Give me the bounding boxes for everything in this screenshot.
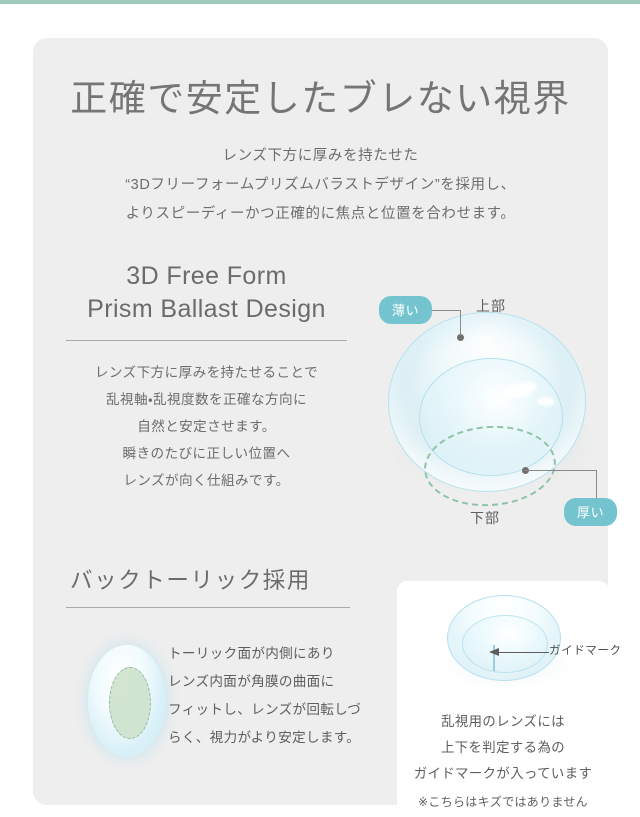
top-accent-band	[0, 0, 640, 4]
body-line: 乱視用のレンズには	[397, 709, 609, 735]
lens-inner-surface	[462, 615, 548, 673]
callout-leader-thin	[431, 310, 461, 311]
intro-line: レンズ下方に厚みを持たせた	[33, 142, 608, 171]
section-title-line: 3D Free Form	[58, 260, 355, 293]
page-title: 正確で安定したブレない視界	[33, 68, 608, 122]
body-line: 乱視軸・乱視度数を正確な方向に	[58, 386, 355, 413]
section-body-3d-free-form: レンズ下方に厚みを持たせることで 乱視軸・乱視度数を正確な方向に 自然と安定させ…	[58, 359, 355, 494]
lens-cross-section-illustration	[351, 250, 608, 540]
body-line: らく、視力がより安定します。	[168, 724, 368, 752]
guide-mark-arrow-label: ガイドマーク	[549, 642, 622, 658]
back-toric-lens-illustration	[88, 645, 166, 757]
intro-line: よりスピーディーかつ正確的に焦点と位置を合わせます。	[33, 200, 608, 229]
arrow-shaft	[497, 652, 549, 653]
guide-mark-description: 乱視用のレンズには 上下を判定する為の ガイドマークが入っています	[397, 709, 609, 787]
body-line: レンズが向く仕組みです。	[58, 467, 355, 494]
callout-leader-thick	[525, 470, 597, 471]
body-line: ガイドマークが入っています	[397, 761, 609, 787]
body-line: トーリック面が内側にあり	[168, 640, 368, 668]
callout-leader-thick	[596, 470, 597, 500]
callout-leader-thin	[460, 310, 461, 336]
body-line: レンズ下方に厚みを持たせることで	[58, 359, 355, 386]
divider	[66, 607, 350, 608]
label-lower-part: 下部	[470, 508, 500, 528]
divider	[66, 340, 347, 341]
section-title-3d-free-form: 3D Free Form Prism Ballast Design	[58, 260, 355, 326]
infographic-card: 正確で安定したブレない視界 レンズ下方に厚みを持たせた “3Dフリーフォームプリ…	[33, 38, 608, 805]
label-upper-part: 上部	[476, 296, 506, 316]
section-title-back-toric: バックトーリック採用	[58, 563, 358, 595]
guide-mark-card: ガイドマーク 乱視用のレンズには 上下を判定する為の ガイドマークが入っています…	[397, 581, 609, 813]
guide-mark-note: ※こちらはキズではありません	[397, 793, 609, 810]
toric-surface-zone	[109, 667, 151, 739]
guide-mark-lens-illustration	[431, 589, 579, 693]
body-line: 瞬きのたびに正しい位置へ	[58, 440, 355, 467]
body-line: フィットし、レンズが回転しづ	[168, 696, 368, 724]
back-toric-section: バックトーリック採用 トーリック面が内側にあり レンズ内面が角膜の曲面に フィッ…	[58, 563, 358, 608]
body-line: レンズ内面が角膜の曲面に	[168, 668, 368, 696]
prism-ballast-section: 3D Free Form Prism Ballast Design レンズ下方に…	[58, 260, 355, 494]
intro-paragraph: レンズ下方に厚みを持たせた “3Dフリーフォームプリズムバラストデザイン”を採用…	[33, 142, 608, 229]
body-line: 上下を判定する為の	[397, 735, 609, 761]
body-line: 自然と安定させます。	[58, 413, 355, 440]
intro-line: “3Dフリーフォームプリズムバラストデザイン”を採用し、	[33, 171, 608, 200]
guide-mark-arrow-icon	[489, 647, 549, 657]
section-body-back-toric: トーリック面が内側にあり レンズ内面が角膜の曲面に フィットし、レンズが回転しづ…	[168, 640, 368, 752]
badge-thin: 薄い	[379, 296, 432, 324]
section-title-line: Prism Ballast Design	[58, 293, 355, 326]
badge-thick: 厚い	[564, 498, 617, 526]
lens-highlight	[537, 397, 555, 406]
